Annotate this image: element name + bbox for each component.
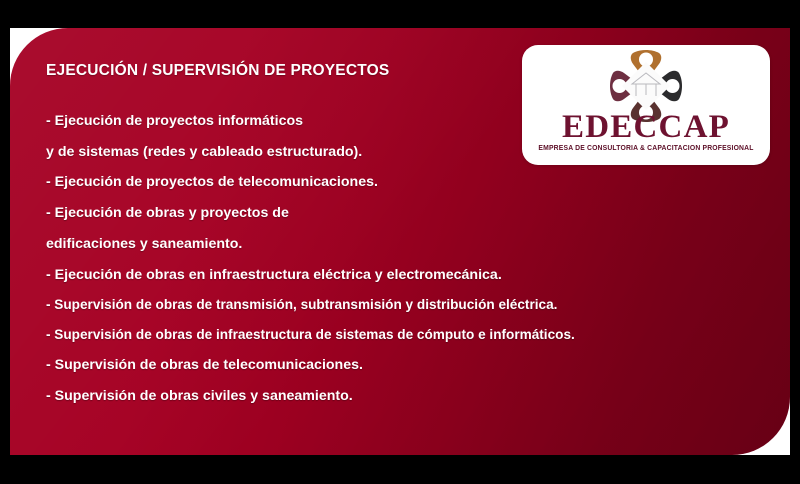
company-logo-panel: EDECCAP EMPRESA DE CONSULTORIA & CAPACIT… (522, 45, 770, 165)
list-item: - Supervisión de obras de telecomunicaci… (46, 358, 770, 372)
list-item: - Supervisión de obras de transmisión, s… (46, 298, 770, 312)
list-item: - Supervisión de obras de infraestructur… (46, 328, 770, 342)
slide-card: EJECUCIÓN / SUPERVISIÓN DE PROYECTOS - E… (10, 28, 790, 455)
logo-tagline: EMPRESA DE CONSULTORIA & CAPACITACION PR… (527, 144, 765, 152)
list-item: - Ejecución de obras y proyectos de (46, 206, 770, 220)
list-item: edificaciones y saneamiento. (46, 237, 770, 251)
logo-wordmark: EDECCAP (522, 111, 770, 144)
list-item: - Ejecución de obras en infraestructura … (46, 268, 770, 282)
list-item: - Supervisión de obras civiles y saneami… (46, 389, 770, 403)
slide-stage: EJECUCIÓN / SUPERVISIÓN DE PROYECTOS - E… (0, 0, 800, 484)
list-item: - Ejecución de proyectos de telecomunica… (46, 175, 770, 189)
